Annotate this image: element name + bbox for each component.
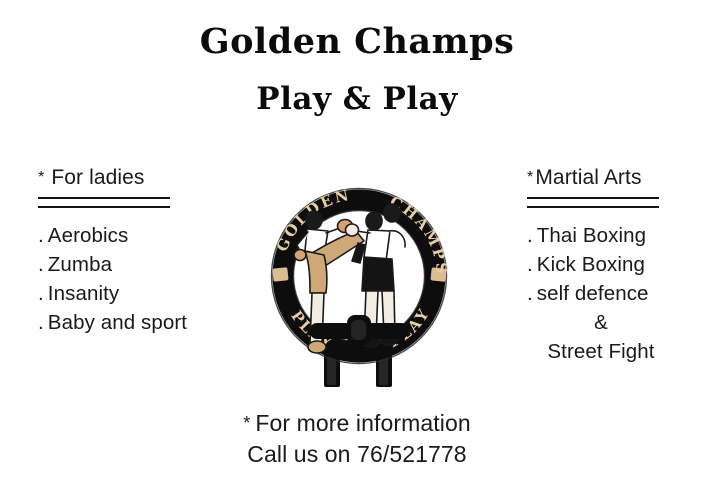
list-item: .Insanity [38,279,253,308]
divider-rule-bottom [527,206,659,208]
column-martial-arts-heading-label: Martial Arts [535,166,641,189]
asterisk-icon: * [243,413,250,433]
bullet-dot-icon: . [527,282,533,305]
column-martial-arts-heading: *Martial Arts [527,166,687,189]
list-item-label: self defence [537,282,649,305]
divider-rule-top [527,197,659,199]
column-ladies-heading-label: For ladies [51,166,144,189]
golden-champs-belt-logo: GOLDEN CHAMPS PLAY PLAY [252,165,467,390]
list-item: .Baby and sport [38,308,253,337]
bullet-dot-icon: . [527,224,533,247]
bullet-dot-icon: . [38,311,44,334]
page-subtitle: Play & Play [0,83,714,116]
list-item-label: Thai Boxing [537,224,646,247]
column-ladies-heading: *For ladies [38,166,253,189]
list-item: .Kick Boxing [527,250,687,279]
bullet-dot-icon: . [38,224,44,247]
list-item: Street Fight [527,337,687,366]
list-item-label: Insanity [48,282,119,305]
asterisk-icon: * [527,169,533,187]
list-item-ampersand: & [527,308,687,337]
list-item: .Thai Boxing [527,221,687,250]
column-ladies-list: .Aerobics .Zumba .Insanity .Baby and spo… [38,221,253,337]
list-item: .self defence [527,279,687,308]
column-martial-arts-list: .Thai Boxing .Kick Boxing .self defence … [527,221,687,366]
list-item: .Zumba [38,250,253,279]
footer-line-2: Call us on 76/521778 [0,439,714,470]
title-block: Golden Champs Play & Play [0,24,714,115]
divider-rule-bottom [38,206,170,208]
list-item-label: Baby and sport [48,311,187,334]
column-ladies: *For ladies .Aerobics .Zumba .Insanity .… [38,166,253,337]
footer-contact: *For more information Call us on 76/5217… [0,408,714,470]
footer-line-1: *For more information [0,408,714,439]
flyer-poster: Golden Champs Play & Play *For ladies .A… [0,0,714,486]
divider-rule-top [38,197,170,199]
column-martial-arts: *Martial Arts .Thai Boxing .Kick Boxing … [527,166,687,366]
list-item-label: Aerobics [48,224,129,247]
bullet-dot-icon: . [38,282,44,305]
list-item-label: Street Fight [547,340,654,363]
asterisk-icon: * [38,169,44,187]
bullet-dot-icon: . [38,253,44,276]
list-item-label: & [594,311,608,334]
page-title: Golden Champs [0,24,714,61]
column-martial-arts-divider [527,197,659,208]
footer-line-1-label: For more information [255,410,470,436]
bullet-dot-icon: . [527,253,533,276]
column-ladies-divider [38,197,170,208]
list-item-label: Kick Boxing [537,253,645,276]
list-item: .Aerobics [38,221,253,250]
list-item-label: Zumba [48,253,112,276]
